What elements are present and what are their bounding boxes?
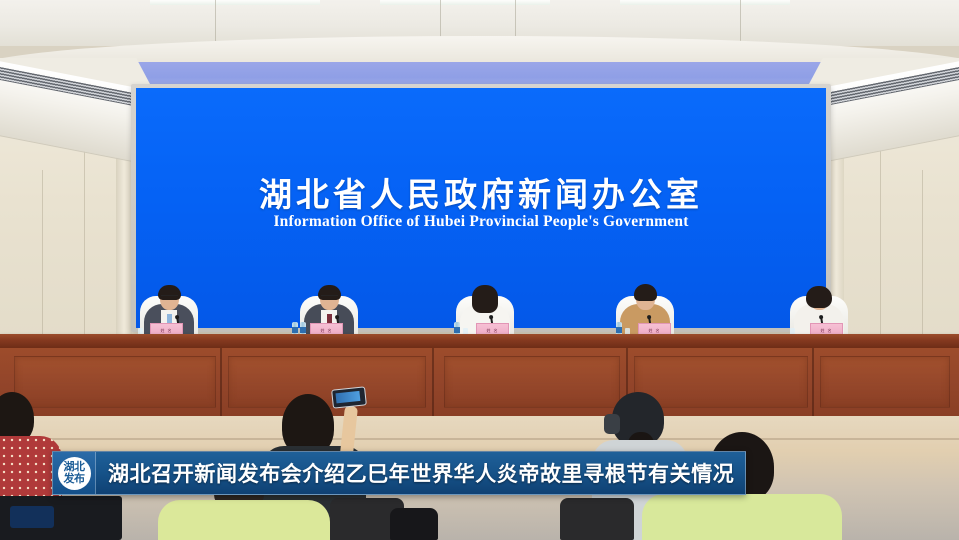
panelist-2: 姓 名 — [292, 268, 366, 340]
table-seam — [432, 348, 434, 416]
panelist-5: 姓 名 — [782, 268, 856, 340]
table-seam — [220, 348, 222, 416]
conference-table-front — [0, 348, 959, 416]
ceiling-seam-4 — [740, 0, 741, 46]
table-panel — [820, 356, 950, 408]
audience-body — [158, 500, 330, 540]
panelist-3: 姓 名 — [448, 268, 522, 340]
wall-seam-right-2 — [922, 170, 923, 340]
ceiling-seam-1 — [215, 0, 216, 46]
ceiling-light-glow-3 — [620, 0, 790, 5]
wall-seam-right — [880, 150, 881, 345]
panelist-hair — [634, 284, 657, 301]
ceiling-light-glow-2 — [380, 0, 550, 5]
table-seam — [812, 348, 814, 416]
press-conference-broadcast-frame: 湖北省人民政府新闻办公室 Information Office of Hubei… — [0, 0, 959, 540]
ceiling-light-glow-1 — [150, 0, 320, 5]
hubei-broadcast-logo[interactable]: 湖北 发布 — [53, 452, 96, 494]
glasses-icon — [161, 295, 178, 300]
panelist-hair — [806, 286, 832, 308]
camera-screen — [10, 506, 54, 528]
banner-headline: 湖北召开新闻发布会介绍乙巳年世界华人炎帝故里寻根节有关情况 — [96, 458, 745, 488]
logo-text-line2: 发布 — [64, 474, 85, 485]
panelist-hair — [472, 285, 498, 313]
glasses-icon — [321, 295, 338, 300]
screen-title-chinese: 湖北省人民政府新闻办公室 — [136, 168, 826, 216]
audience-chair — [560, 498, 634, 540]
table-panel — [444, 356, 620, 408]
wall-seam-left — [84, 150, 85, 345]
smartphone-icon[interactable] — [331, 386, 367, 408]
conference-table-top — [0, 334, 959, 348]
panelist-1: 姓 名 — [132, 268, 206, 340]
audience-chair — [390, 508, 438, 540]
logo-circle: 湖北 发布 — [58, 457, 91, 490]
audience-member-bottom-right — [642, 488, 842, 540]
floor-edge-line — [0, 438, 959, 440]
audience-body — [642, 494, 842, 540]
lower-third-banner: 湖北 发布 湖北召开新闻发布会介绍乙巳年世界华人炎帝故里寻根节有关情况 — [52, 451, 746, 495]
screen-title-english: Information Office of Hubei Provincial P… — [136, 213, 826, 231]
wall-seam-left-2 — [42, 170, 43, 340]
headset-icon — [604, 414, 620, 434]
panelist-4: 姓 名 — [608, 268, 682, 340]
logo-text-line1: 湖北 — [64, 462, 85, 473]
